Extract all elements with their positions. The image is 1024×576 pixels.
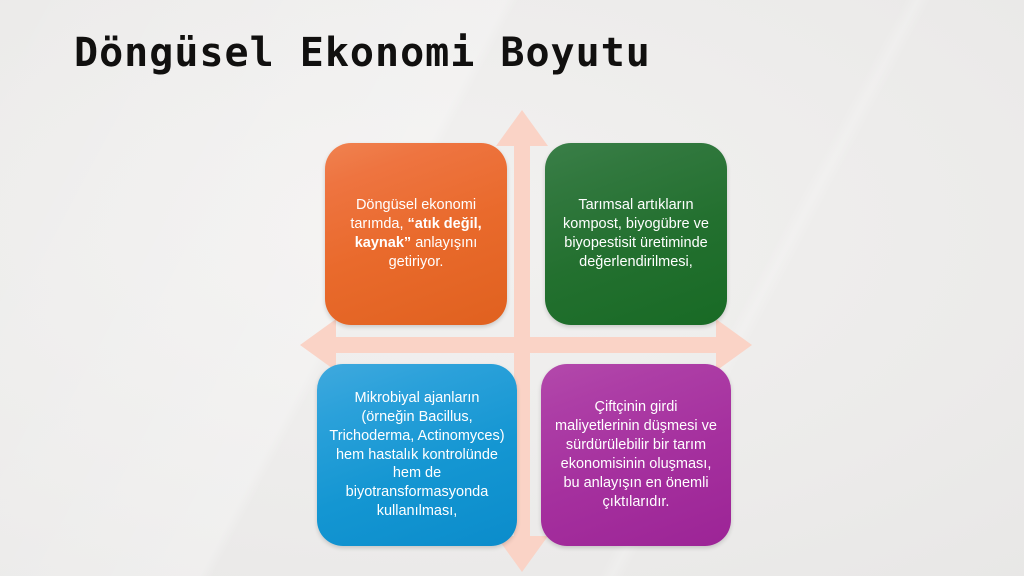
quadrant-box-purple[interactable]: Çiftçinin girdi maliyetlerinin düşmesi v… bbox=[541, 364, 731, 546]
slide-canvas: Döngüsel Ekonomi Boyutu Döngüsel ekonomi… bbox=[0, 0, 1024, 576]
page-title: Döngüsel Ekonomi Boyutu bbox=[74, 30, 651, 76]
quadrant-box-green[interactable]: Tarımsal artıkların kompost, biyogübre v… bbox=[545, 143, 727, 325]
quadrant-text-orange: Döngüsel ekonomi tarımda, “atık değil, k… bbox=[337, 196, 495, 271]
quadrant-text-purple: Çiftçinin girdi maliyetlerinin düşmesi v… bbox=[553, 398, 719, 511]
quadrant-text-blue: Mikrobiyal ajanların (örneğin Bacillus, … bbox=[329, 389, 505, 521]
quadrant-box-orange[interactable]: Döngüsel ekonomi tarımda, “atık değil, k… bbox=[325, 143, 507, 325]
quadrant-text-green: Tarımsal artıkların kompost, biyogübre v… bbox=[557, 196, 715, 271]
quadrant-box-blue[interactable]: Mikrobiyal ajanların (örneğin Bacillus, … bbox=[317, 364, 517, 546]
